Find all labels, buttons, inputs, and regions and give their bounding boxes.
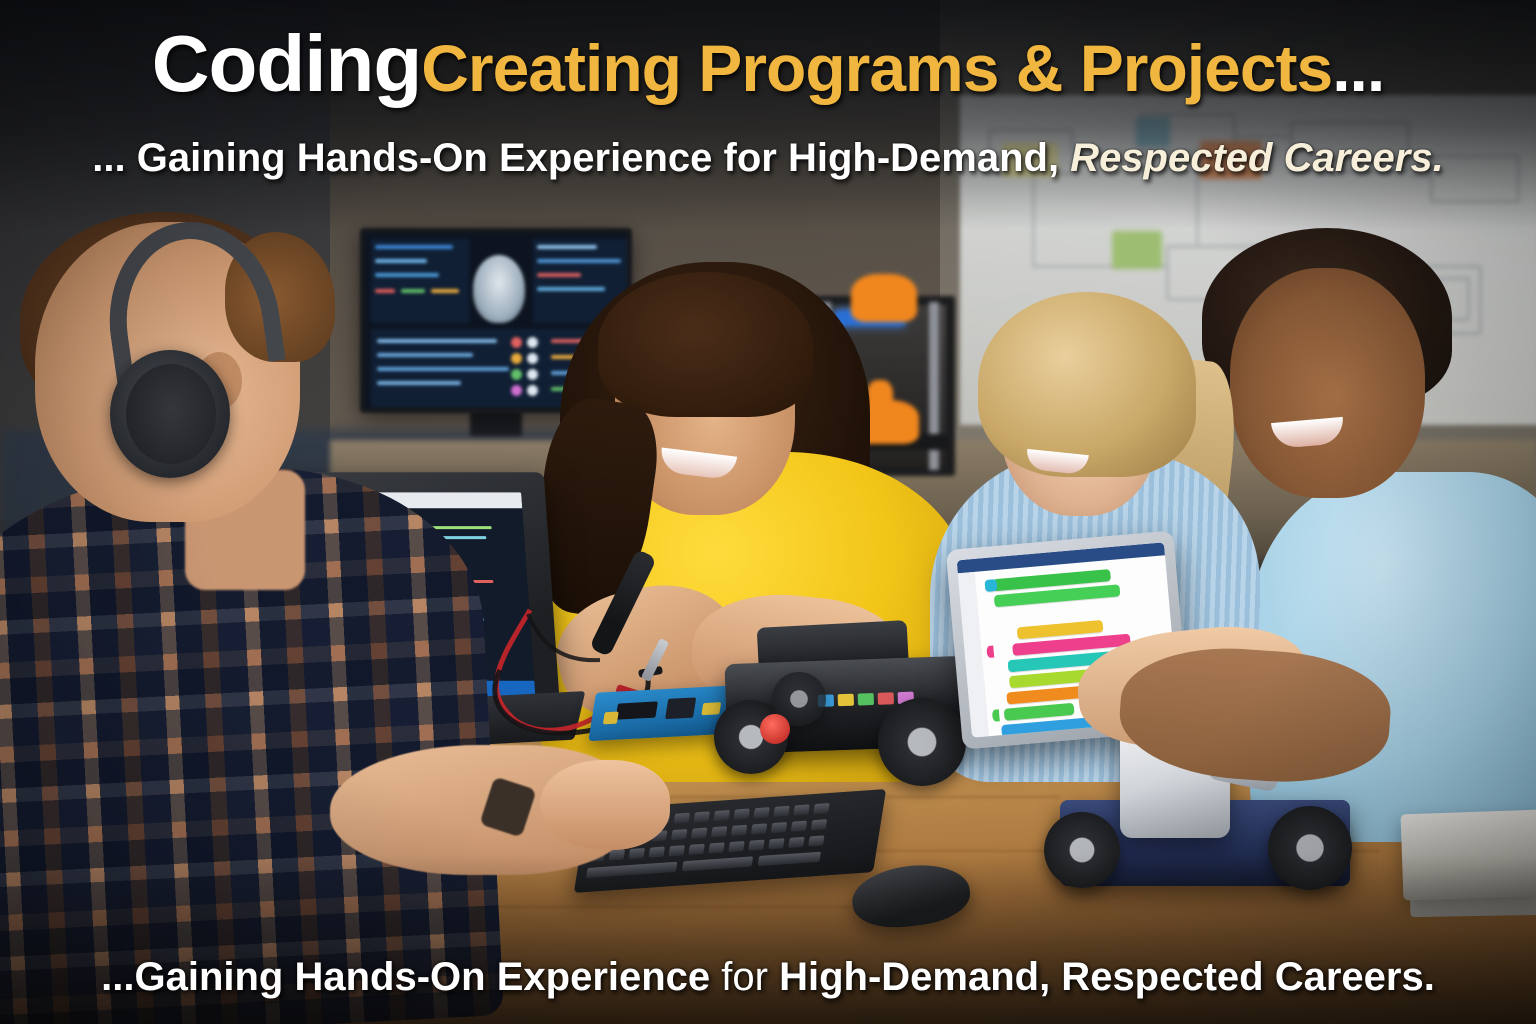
component-box-top (1401, 810, 1536, 901)
face-model-preview (473, 255, 525, 323)
title-gold-phrase: Creating Programs & Projects (421, 31, 1332, 105)
robot-wheel-right (1268, 806, 1352, 890)
code-block-cyan[interactable] (984, 579, 997, 592)
robot-wheel-left (1044, 812, 1120, 888)
caption-for: for (721, 955, 779, 999)
boy-left-hand (540, 760, 670, 850)
poster-subtitle: ... Gaining Hands-On Experience for High… (0, 136, 1536, 181)
monitor-stand (470, 410, 522, 436)
poster-title: CodingCreating Programs & Projects... (0, 24, 1536, 104)
sticky-note-green (1112, 231, 1162, 269)
subtitle-prefix: ... Gaining Hands-On Experience for High… (92, 136, 1059, 180)
subtitle-italic-phrase: Respected Careers. (1059, 136, 1444, 180)
robot-car-wheel-rear (878, 698, 966, 786)
caption-tail: High-Demand, Respected Careers. (779, 955, 1435, 999)
title-word-coding: Coding (152, 19, 421, 108)
title-ellipsis: ... (1332, 31, 1384, 105)
code-block-green3[interactable] (1004, 703, 1075, 721)
poster-caption: ...Gaining Hands-On Experience for High-… (0, 955, 1536, 1000)
robot-car-indicator-light (760, 714, 790, 744)
title-block: CodingCreating Programs & Projects... (0, 24, 1536, 104)
poster-canvas: CodingCreating Programs & Projects... ..… (0, 0, 1536, 1024)
caption-lead: ...Gaining Hands-On Experience (101, 955, 721, 999)
